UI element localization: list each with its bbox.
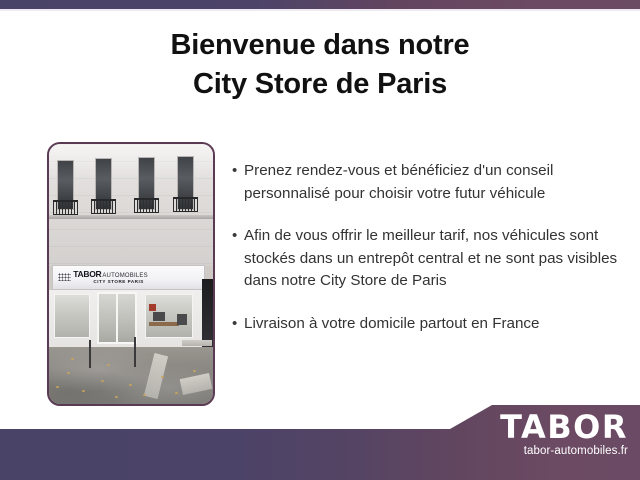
top-accent-bar bbox=[0, 0, 640, 9]
bullet-marker-icon: • bbox=[232, 313, 244, 335]
facade-balcony bbox=[53, 200, 78, 215]
fallen-leaf bbox=[193, 370, 196, 372]
pavement-texture bbox=[49, 347, 213, 404]
tabor-logo: TABOR tabor-automobiles.fr bbox=[500, 411, 628, 457]
slide-title-line-2: City Store de Paris bbox=[0, 65, 640, 104]
facade-balcony bbox=[134, 198, 159, 213]
interior-equipment bbox=[177, 314, 187, 325]
fallen-leaf bbox=[129, 384, 132, 386]
storefront-photo-inner: TABORAUTOMOBILES CITY STORE PARIS bbox=[49, 144, 213, 404]
fallen-leaf bbox=[101, 380, 104, 382]
fallen-leaf bbox=[143, 394, 146, 396]
sign-dots-icon bbox=[58, 273, 71, 281]
pavement bbox=[49, 347, 213, 404]
curb-stone bbox=[182, 340, 212, 346]
bullet-item: • Afin de vous offrir le meilleur tarif,… bbox=[232, 225, 630, 293]
fallen-leaf bbox=[161, 376, 164, 378]
fallen-leaf bbox=[107, 364, 110, 366]
bullet-item-text: Livraison à votre domicile partout en Fr… bbox=[244, 313, 539, 336]
shop-entrance-door bbox=[97, 292, 137, 344]
interior-counter bbox=[149, 322, 179, 326]
fallen-leaf bbox=[56, 386, 59, 388]
tabor-logo-url: tabor-automobiles.fr bbox=[500, 445, 628, 458]
slide-footer: TABOR tabor-automobiles.fr bbox=[0, 405, 640, 480]
storefront-sign-subtitle: CITY STORE PARIS bbox=[73, 280, 144, 285]
top-accent-bar-edge bbox=[0, 9, 640, 11]
bullet-marker-icon: • bbox=[232, 160, 244, 182]
street-bollard bbox=[134, 337, 136, 367]
fallen-leaf bbox=[82, 390, 85, 392]
interior-poster bbox=[149, 304, 156, 311]
fallen-leaf bbox=[175, 392, 178, 394]
facade-cornice bbox=[49, 215, 213, 219]
bullet-item: • Prenez rendez-vous et bénéficiez d'un … bbox=[232, 160, 630, 205]
slide-canvas: Bienvenue dans notre City Store de Paris… bbox=[0, 0, 640, 480]
storefront-sign: TABORAUTOMOBILES CITY STORE PARIS bbox=[52, 265, 205, 290]
fallen-leaf bbox=[67, 372, 70, 374]
slide-title: Bienvenue dans notre City Store de Paris bbox=[0, 26, 640, 104]
bullet-list: • Prenez rendez-vous et bénéficiez d'un … bbox=[232, 160, 630, 355]
bullet-item: • Livraison à votre domicile partout en … bbox=[232, 313, 630, 336]
street-bollard bbox=[89, 340, 91, 368]
bullet-item-text: Prenez rendez-vous et bénéficiez d'un co… bbox=[244, 160, 630, 205]
slide-title-line-1: Bienvenue dans notre bbox=[0, 26, 640, 65]
interior-monitor bbox=[153, 312, 165, 321]
shop-window-left bbox=[54, 294, 90, 338]
fallen-leaf bbox=[71, 358, 74, 360]
fallen-leaf bbox=[115, 396, 118, 398]
storefront-sign-brand: TABORAUTOMOBILES bbox=[73, 270, 148, 279]
facade-balcony bbox=[173, 197, 198, 212]
bullet-item-text: Afin de vous offrir le meilleur tarif, n… bbox=[244, 225, 630, 293]
bullet-marker-icon: • bbox=[232, 225, 244, 247]
storefront-photo: TABORAUTOMOBILES CITY STORE PARIS bbox=[47, 142, 215, 406]
facade-balcony bbox=[91, 199, 116, 214]
storefront-sign-text: TABORAUTOMOBILES CITY STORE PARIS bbox=[73, 270, 148, 285]
side-signage-panel bbox=[202, 279, 213, 347]
tabor-logo-wordmark: TABOR bbox=[500, 411, 628, 444]
